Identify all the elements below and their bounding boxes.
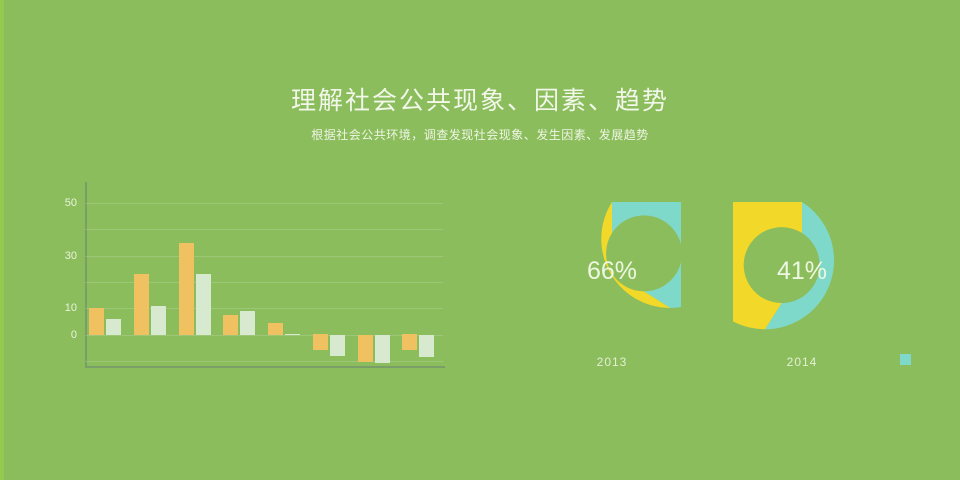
bar (196, 274, 211, 335)
y-axis-tick-label: 50 (65, 197, 77, 209)
bar (313, 334, 328, 350)
bar-chart: 0103050 (55, 182, 455, 374)
donut-svg (543, 202, 681, 340)
legend-color-swatch (900, 354, 911, 365)
bar (419, 335, 434, 357)
donut-ring-2013: 66% (543, 202, 681, 340)
donut-ring-2014: 41% (733, 202, 871, 340)
bar-group (313, 182, 345, 366)
accent-stripe (0, 0, 4, 480)
bar (134, 274, 149, 335)
bar (402, 334, 417, 350)
bar-group (134, 182, 166, 366)
donut-chart-2013: 66% 2013 (543, 202, 681, 369)
donut-slice (612, 202, 681, 308)
donut-caption-2013: 2013 (543, 355, 681, 369)
page-title: 理解社会公共现象、因素、趋势 (0, 84, 960, 118)
bar (240, 311, 255, 335)
donut-caption-2014: 2014 (733, 355, 871, 369)
donut-svg (733, 202, 871, 340)
bar-group (179, 182, 211, 366)
bar (179, 243, 194, 335)
page-subtitle: 根据社会公共环境，调查发现社会现象、发生因素、发展趋势 (0, 127, 960, 144)
slide-canvas: 理解社会公共现象、因素、趋势 根据社会公共环境，调查发现社会现象、发生因素、发展… (0, 0, 960, 480)
bar-group (268, 182, 300, 366)
bar (268, 323, 283, 335)
bar (330, 335, 345, 356)
donut-chart-2014: 41% 2014 (733, 202, 871, 369)
bar-group (223, 182, 255, 366)
bar-group (402, 182, 434, 366)
bar-group (89, 182, 121, 366)
bar (358, 335, 373, 363)
y-axis-tick-label: 10 (65, 302, 77, 314)
bar (375, 335, 390, 364)
bar (89, 308, 104, 334)
bar (223, 315, 238, 335)
heading-block: 理解社会公共现象、因素、趋势 根据社会公共环境，调查发现社会现象、发生因素、发展… (0, 84, 960, 144)
bar-group (358, 182, 390, 366)
bar (151, 306, 166, 335)
bar (106, 319, 121, 335)
bar-chart-bars (87, 182, 445, 366)
y-axis-tick-label: 30 (65, 250, 77, 262)
y-axis-tick-label: 0 (71, 329, 77, 341)
bar (285, 334, 300, 335)
